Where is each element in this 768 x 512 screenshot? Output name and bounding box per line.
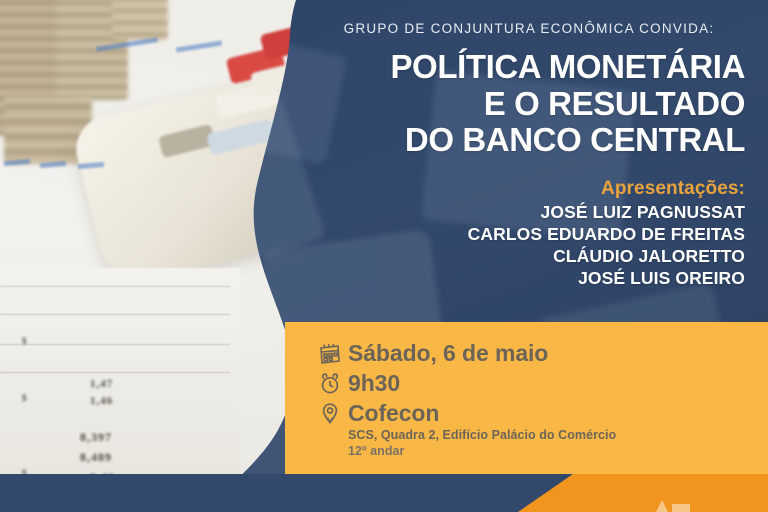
spreadsheet-symbol: $ [22, 393, 28, 403]
coin-stack-icon [112, 0, 168, 40]
presenter-name: CLÁUDIO JALORETTO [313, 245, 745, 267]
event-location-row: Cofecon SCS, Quadra 2, Edifício Palácio … [318, 400, 768, 460]
spreadsheet-symbol: $ [22, 336, 28, 346]
headline-line-2: E O RESULTADO [313, 86, 745, 123]
spreadsheet-value: 8,489 [80, 450, 112, 465]
event-time-row: 9h30 [318, 370, 768, 397]
presenters-block: Apresentações: JOSÉ LUIZ PAGNUSSAT CARLO… [313, 177, 745, 290]
venue-name: Cofecon [348, 400, 616, 427]
spreadsheet-value: 8,397 [80, 430, 112, 445]
spreadsheet-value: 1,47 [90, 378, 113, 390]
presenter-name: JOSÉ LUIS OREIRO [313, 267, 745, 289]
kicker-text: GRUPO DE CONJUNTURA ECONÔMICA CONVIDA: [313, 21, 745, 36]
headline-line-3: DO BANCO CENTRAL [313, 122, 745, 159]
calendar-icon [318, 340, 348, 366]
presenters-label: Apresentações: [313, 177, 745, 201]
event-location-text: Cofecon SCS, Quadra 2, Edifício Palácio … [348, 400, 616, 460]
page-title: POLÍTICA MONETÁRIA E O RESULTADO DO BANC… [313, 49, 745, 159]
alarm-clock-icon [318, 370, 348, 396]
presenter-name: CARLOS EDUARDO DE FREITAS [313, 223, 745, 245]
venue-address-line-2: 12º andar [348, 443, 616, 460]
event-date-row: Sábado, 6 de maio [318, 340, 768, 367]
headline-line-1: POLÍTICA MONETÁRIA [313, 49, 745, 86]
logo-mark-partial [652, 498, 698, 512]
event-details-card: Sábado, 6 de maio 9h30 [285, 322, 768, 474]
spreadsheet-value: 1,46 [90, 395, 113, 407]
chart-bar-graphic [40, 161, 66, 168]
event-flyer: $ 1,47 $ 1,46 8,397 8,489 $ 0,40 GRUPO D… [0, 0, 768, 512]
presenter-name: JOSÉ LUIZ PAGNUSSAT [313, 201, 745, 223]
chart-bar-graphic [176, 40, 222, 52]
event-date: Sábado, 6 de maio [348, 340, 548, 367]
venue-address-line-1: SCS, Quadra 2, Edifício Palácio do Comér… [348, 427, 616, 444]
location-pin-icon [318, 400, 348, 426]
headline-block: GRUPO DE CONJUNTURA ECONÔMICA CONVIDA: P… [313, 0, 745, 290]
event-time: 9h30 [348, 370, 400, 397]
chart-bar-graphic [4, 159, 30, 166]
